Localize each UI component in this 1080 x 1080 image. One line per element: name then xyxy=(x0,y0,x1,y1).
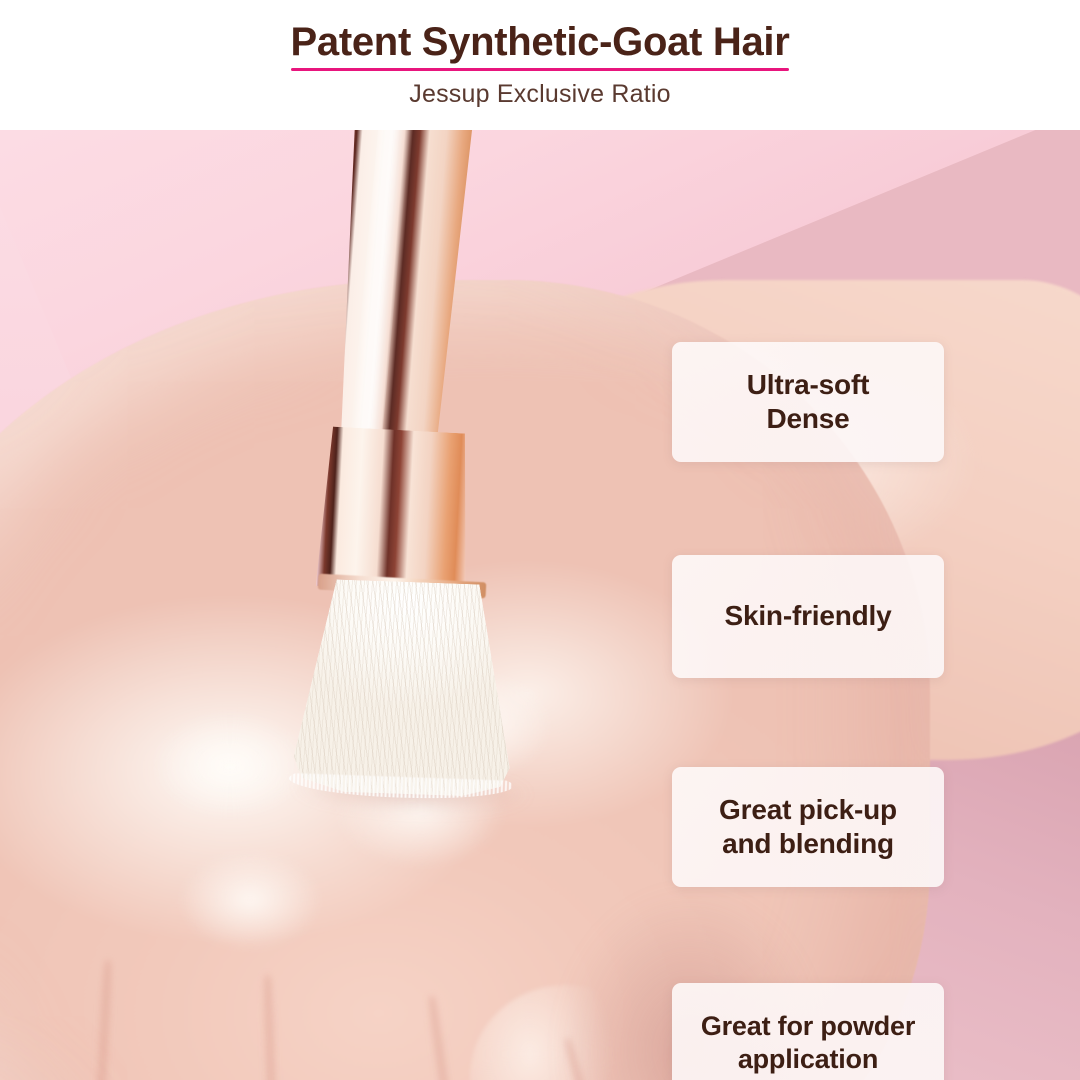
brush-bristle-head xyxy=(293,578,516,797)
feature-callout-ultra-soft-dense: Ultra-softDense xyxy=(672,342,944,462)
product-photo: Ultra-softDense Skin-friendly Great pick… xyxy=(0,130,1080,1080)
header-banner: Patent Synthetic-Goat Hair Jessup Exclus… xyxy=(0,0,1080,130)
feature-callout-pick-up-blending: Great pick-upand blending xyxy=(672,767,944,887)
feature-label: Great for powderapplication xyxy=(691,1010,925,1076)
title-underline-rule xyxy=(291,68,790,71)
feature-label: Great pick-upand blending xyxy=(709,793,907,861)
page-subtitle: Jessup Exclusive Ratio xyxy=(409,80,670,109)
brush-handle xyxy=(318,130,483,455)
feature-callout-powder-application: Great for powderapplication xyxy=(672,983,944,1080)
title-group: Patent Synthetic-Goat Hair xyxy=(285,21,796,71)
brush-ferrule-body xyxy=(316,426,474,594)
feature-label: Skin-friendly xyxy=(715,599,902,633)
product-infographic: Patent Synthetic-Goat Hair Jessup Exclus… xyxy=(0,0,1080,1080)
bristle-strands-fine xyxy=(293,578,516,797)
feature-label: Ultra-softDense xyxy=(737,368,879,436)
page-title: Patent Synthetic-Goat Hair xyxy=(291,21,790,63)
brush-ferrule xyxy=(316,426,474,594)
feature-callout-skin-friendly: Skin-friendly xyxy=(672,555,944,678)
